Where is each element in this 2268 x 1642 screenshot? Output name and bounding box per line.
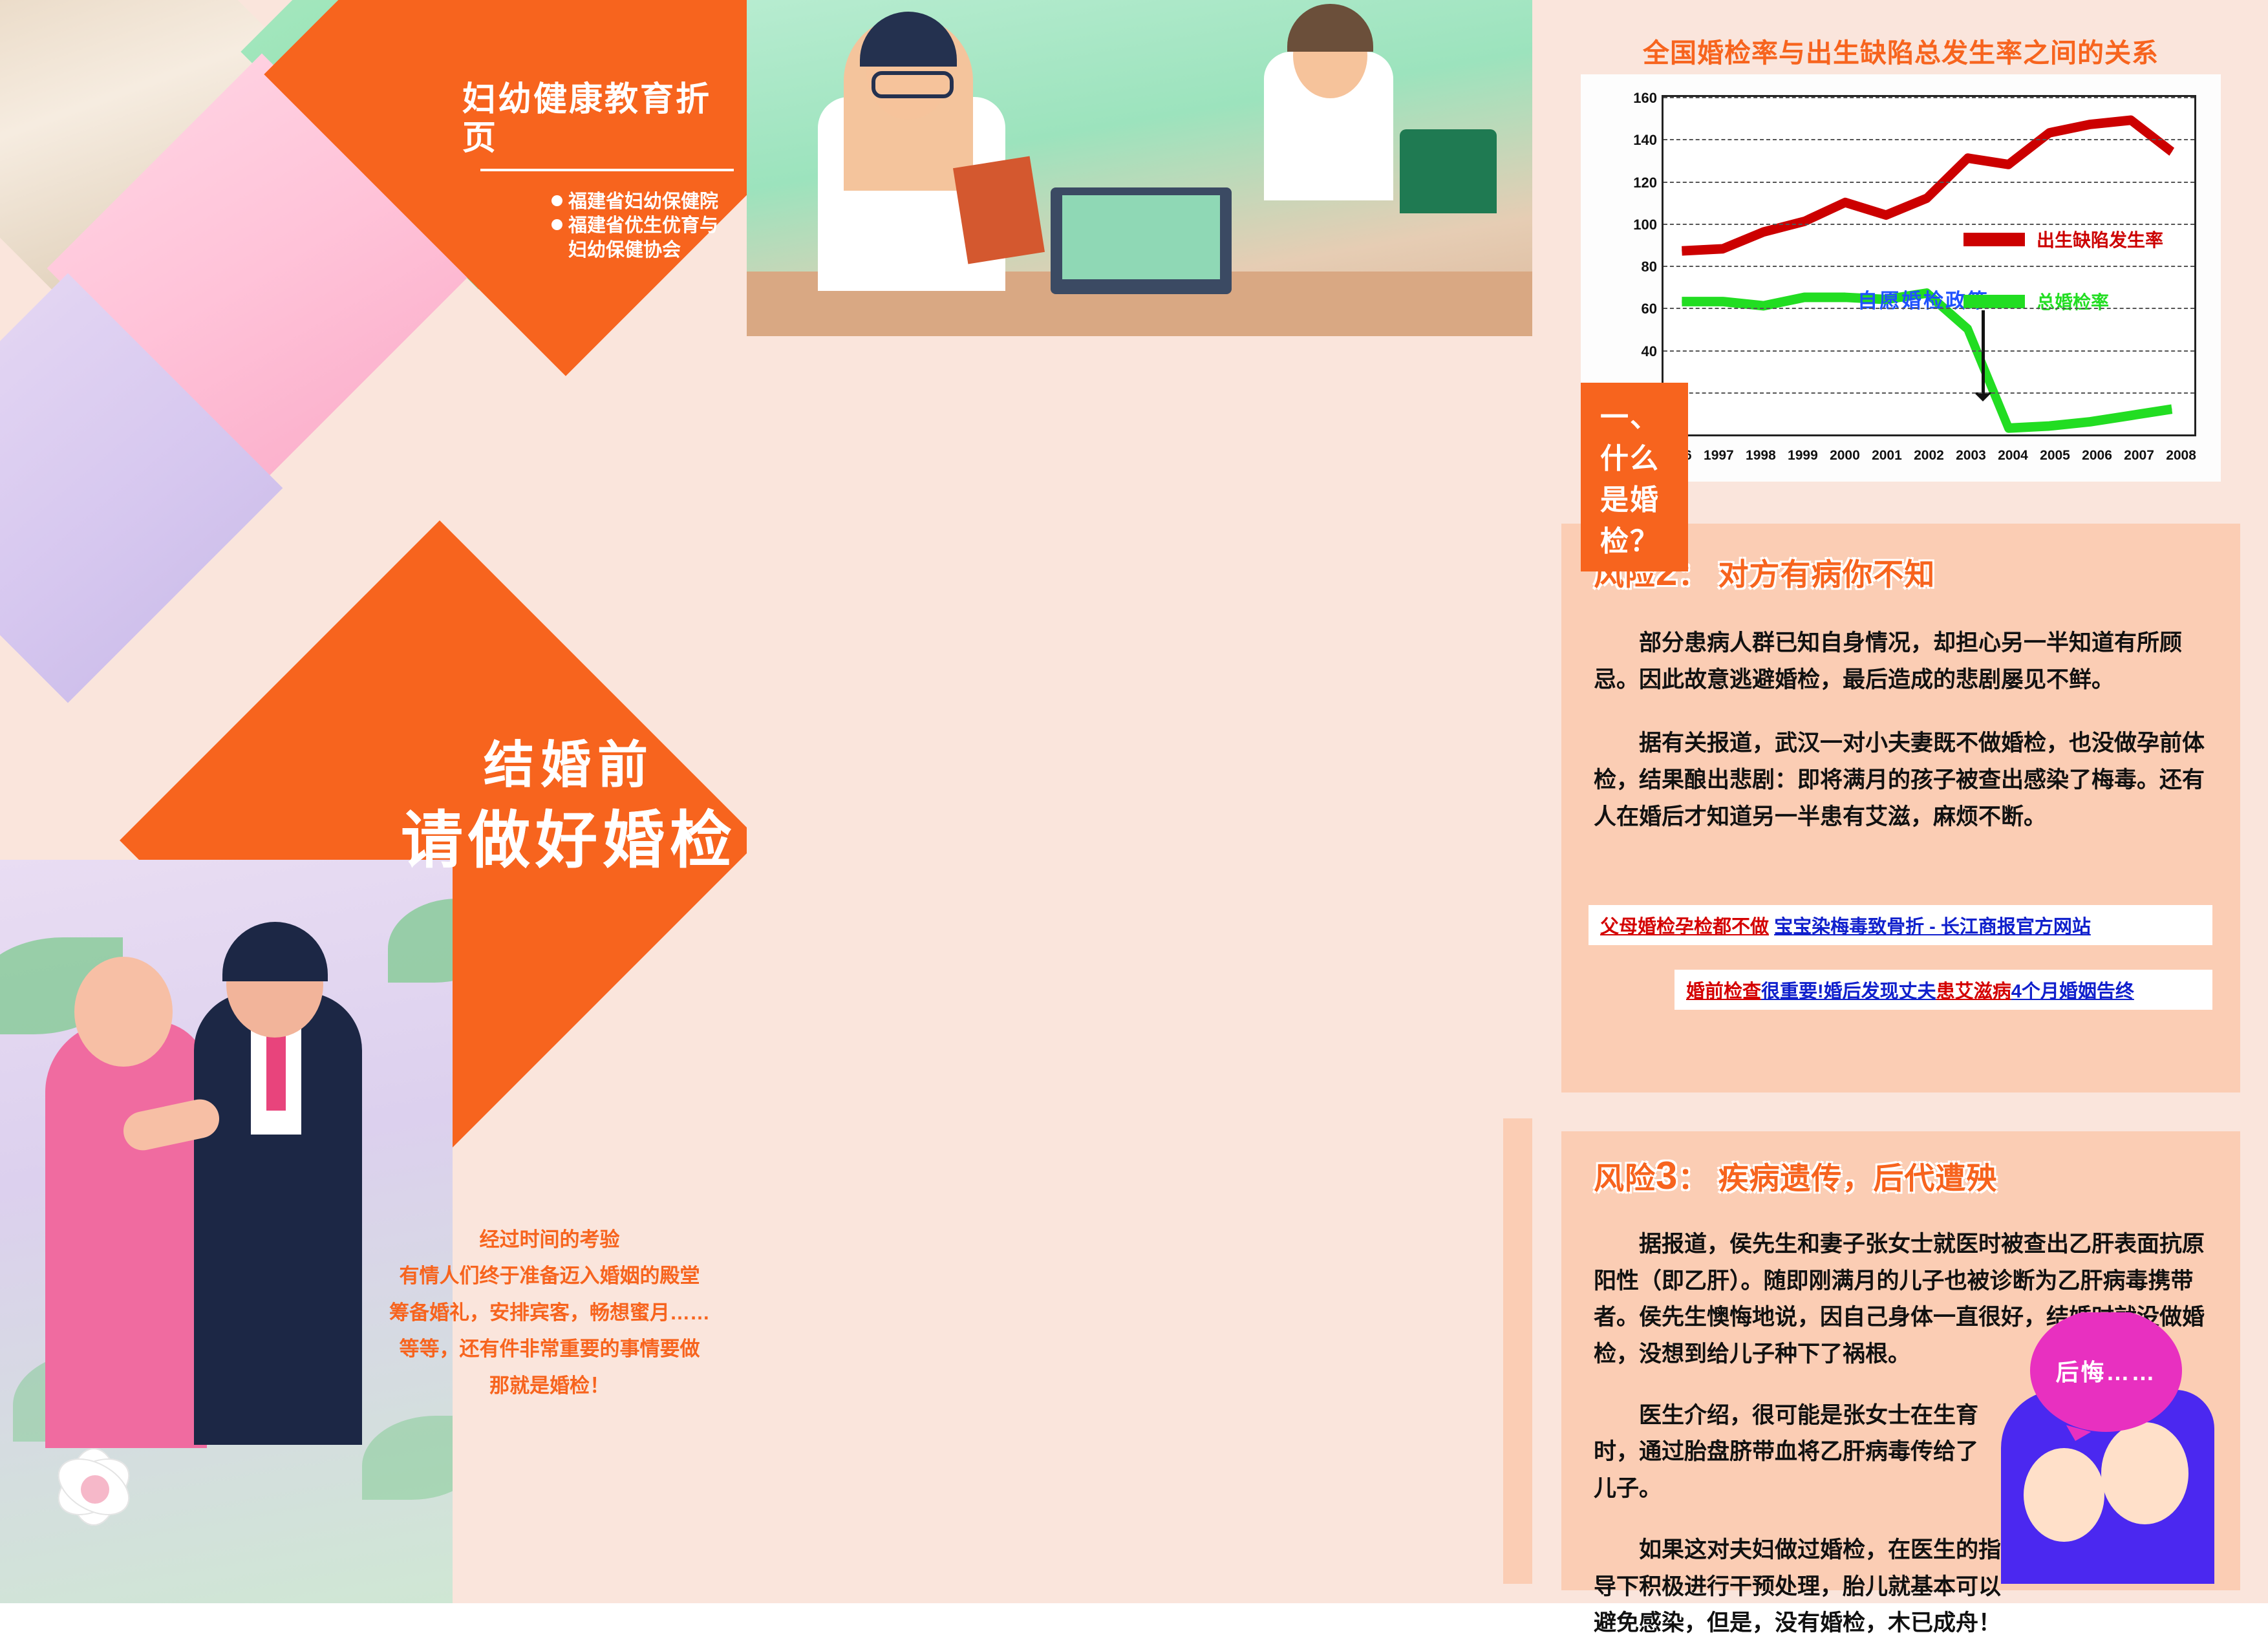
risk3-subtitle: 疾病遗传，后代遭殃: [1718, 1161, 1997, 1195]
legend-label-defect: 出生缺陷发生率: [2037, 226, 2163, 252]
legend-swatch-rate: [1963, 295, 2025, 308]
legend-swatch-defect: [1963, 233, 2025, 246]
risk2-subtitle: 对方有病你不知: [1718, 557, 1935, 592]
chart-x-tick-label: 1997: [1704, 448, 1734, 464]
cover-note: 经过时间的考验 有情人们终于准备迈入婚姻的殿堂 筹备婚礼，安排宾客，畅想蜜月………: [362, 1222, 737, 1404]
bullet-dot-icon: [551, 219, 562, 230]
list-item: 福建省妇幼保健院: [550, 190, 740, 215]
news-link-1-blue[interactable]: 宝宝染梅毒致骨折 - 长江商报官方网站: [1774, 917, 2091, 937]
chart-gridline: 20: [1664, 392, 2194, 394]
risk-card-3: 风险3： 疾病遗传，后代遭殃 据报道，侯先生和妻子张女士就医时被查出乙肝表面抗原…: [1561, 1131, 2240, 1590]
risk-card-2: 风险2： 对方有病你不知 部分患病人群已知自身情况，却担心另一半知道有所顾忌。因…: [1561, 524, 2240, 1093]
cover-note-line: 等等，还有件非常重要的事情要做: [362, 1331, 737, 1367]
chart-gridline: 80: [1664, 266, 2194, 267]
news-link-2-blue[interactable]: 很重要!婚后发现丈夫: [1761, 981, 1936, 1002]
chart-x-tick-label: 2008: [2166, 448, 2196, 464]
risk3-label: 风险: [1594, 1161, 1656, 1195]
news-link-1[interactable]: 父母婚检孕检都不做 宝宝染梅毒致骨折 - 长江商报官方网站: [1589, 905, 2212, 945]
cover-note-line: 经过时间的考验: [362, 1222, 737, 1258]
brochure-header: 妇幼健康教育折页 福建省妇幼保健院 福建省优生优育与 妇幼保健协会: [462, 81, 740, 282]
chart-x-tick-label: 2005: [2040, 448, 2070, 464]
regret-illustration: 后悔……: [1962, 1312, 2221, 1584]
doctors-illustration: [747, 0, 1532, 336]
chart-y-tick-label: 100: [1633, 217, 1657, 233]
news-link-2-blue2[interactable]: 4个月婚姻告终: [2011, 981, 2134, 1002]
chart-x-tick-label: 2004: [1998, 448, 2028, 464]
chart-y-tick-label: 80: [1642, 259, 1657, 275]
chart-x-axis-labels: 1996199719981999200020012002200320042005…: [1662, 448, 2196, 464]
chart-gridline: 140: [1664, 139, 2194, 140]
chart-y-tick-label: 40: [1642, 343, 1657, 360]
right-column: 全国婚检率与出生缺陷总发生率之间的关系 自愿婚检政策 出生缺陷发生率 总婚检率: [1532, 0, 2268, 1603]
brochure-page: 妇幼健康教育折页 福建省妇幼保健院 福建省优生优育与 妇幼保健协会: [0, 0, 2268, 1603]
news-link-2-red2[interactable]: 患艾滋病: [1936, 981, 2011, 1002]
risk3-paragraph: 医生介绍，很可能是张女士在生育时，通过胎盘脐带血将乙肝病毒传给了儿子。: [1594, 1398, 1995, 1508]
list-item: 福建省优生优育与 妇幼保健协会: [550, 214, 740, 262]
chart-x-tick-label: 2007: [2124, 448, 2154, 464]
page-title: 妇幼健康教育折页: [462, 81, 740, 158]
chart-y-tick-label: 140: [1633, 132, 1657, 149]
chart-gridline: 40: [1664, 350, 2194, 352]
chart-x-tick-label: 2000: [1830, 448, 1860, 464]
chart-y-tick-label: 60: [1642, 301, 1657, 317]
cover-main-title: 结婚前 请做好婚检: [401, 734, 737, 881]
cover-title-line2: 请做好婚检: [401, 801, 737, 882]
chart-y-tick-label: 120: [1633, 175, 1657, 191]
chart-x-tick-label: 2001: [1872, 448, 1902, 464]
bullet-dot-icon: [551, 195, 562, 206]
chart-title: 全国婚检率与出生缺陷总发生率之间的关系: [1561, 13, 2240, 70]
news-link-2-red[interactable]: 婚前检查: [1686, 981, 1761, 1002]
cover-note-line: 有情人们终于准备迈入婚姻的殿堂: [362, 1258, 737, 1294]
risk2-paragraph: 部分患病人群已知自身情况，却担心另一半知道有所顾忌。因此故意逃避婚检，最后造成的…: [1594, 625, 2205, 698]
risk2-paragraph: 据有关报道，武汉一对小夫妻既不做婚检，也没做孕前体检，结果酿出悲剧：即将满月的孩…: [1594, 725, 2205, 835]
cover-note-line: 那就是婚检！: [362, 1368, 737, 1404]
bride-head: [74, 957, 173, 1067]
risk3-paragraph: 如果这对夫妇做过婚检，在医生的指导下积极进行干预处理，胎儿就基本可以避免感染，但…: [1594, 1532, 2007, 1642]
left-cover-panel: 妇幼健康教育折页 福建省妇幼保健院 福建省优生优育与 妇幼保健协会: [0, 0, 747, 1603]
news-link-2[interactable]: 婚前检查很重要!婚后发现丈夫患艾滋病4个月婚姻告终: [1674, 970, 2212, 1010]
chart-x-tick-label: 2003: [1956, 448, 1986, 464]
chart-x-tick-label: 2002: [1914, 448, 1944, 464]
organization-list: 福建省妇幼保健院 福建省优生优育与 妇幼保健协会: [524, 190, 740, 263]
cover-note-line: 筹备婚礼，安排宾客，畅想蜜月……: [362, 1295, 737, 1331]
risk3-colon: ：: [1678, 1161, 1709, 1195]
legend-item: 出生缺陷发生率: [1963, 226, 2163, 252]
regret-bubble: 后悔……: [2030, 1312, 2182, 1432]
section-heading-what-is: 一、什么是婚检？: [1581, 383, 1688, 571]
chart-x-tick-label: 1999: [1788, 448, 1818, 464]
chart-x-tick-label: 1998: [1746, 448, 1776, 464]
middle-column: 一、什么是婚检？ 婚检是准备结婚的男女双方在结婚登记前进行婚前医学检查。 婚前医…: [747, 0, 1532, 1603]
org-name-continued: 妇幼保健协会: [568, 239, 740, 263]
groom-hair: [222, 922, 328, 981]
chart-legend: 出生缺陷发生率 总婚检率: [1963, 226, 2163, 350]
chart-gridline: 120: [1664, 182, 2194, 183]
risk2-title: 风险2： 对方有病你不知: [1594, 549, 2240, 594]
flower-decoration: [36, 1429, 152, 1545]
chart-plot-area: 自愿婚检政策 出生缺陷发生率 总婚检率 20406080100120140160…: [1662, 95, 2196, 436]
groom-tie: [266, 1027, 286, 1111]
header-divider: [480, 169, 734, 171]
legend-item: 总婚检率: [1963, 288, 2163, 314]
chart-gridline: 60: [1664, 308, 2194, 309]
chart-gridline: 160: [1664, 97, 2194, 98]
org-name: 福建省妇幼保健院: [568, 191, 718, 212]
legend-label-rate: 总婚检率: [2037, 288, 2109, 314]
chart-y-tick-label: 160: [1633, 90, 1657, 107]
cover-title-line1: 结婚前: [401, 734, 737, 797]
bride-figure: [45, 1021, 207, 1448]
org-name: 福建省优生优育与: [568, 215, 718, 236]
chart-x-tick-label: 2006: [2082, 448, 2112, 464]
risk3-title: 风险3： 疾病遗传，后代遭殃: [1594, 1153, 2240, 1198]
chart-gridline: 100: [1664, 224, 2194, 225]
risk3-number: 3: [1656, 1154, 1678, 1197]
news-link-1-red[interactable]: 父母婚检孕检都不做: [1600, 917, 1769, 937]
